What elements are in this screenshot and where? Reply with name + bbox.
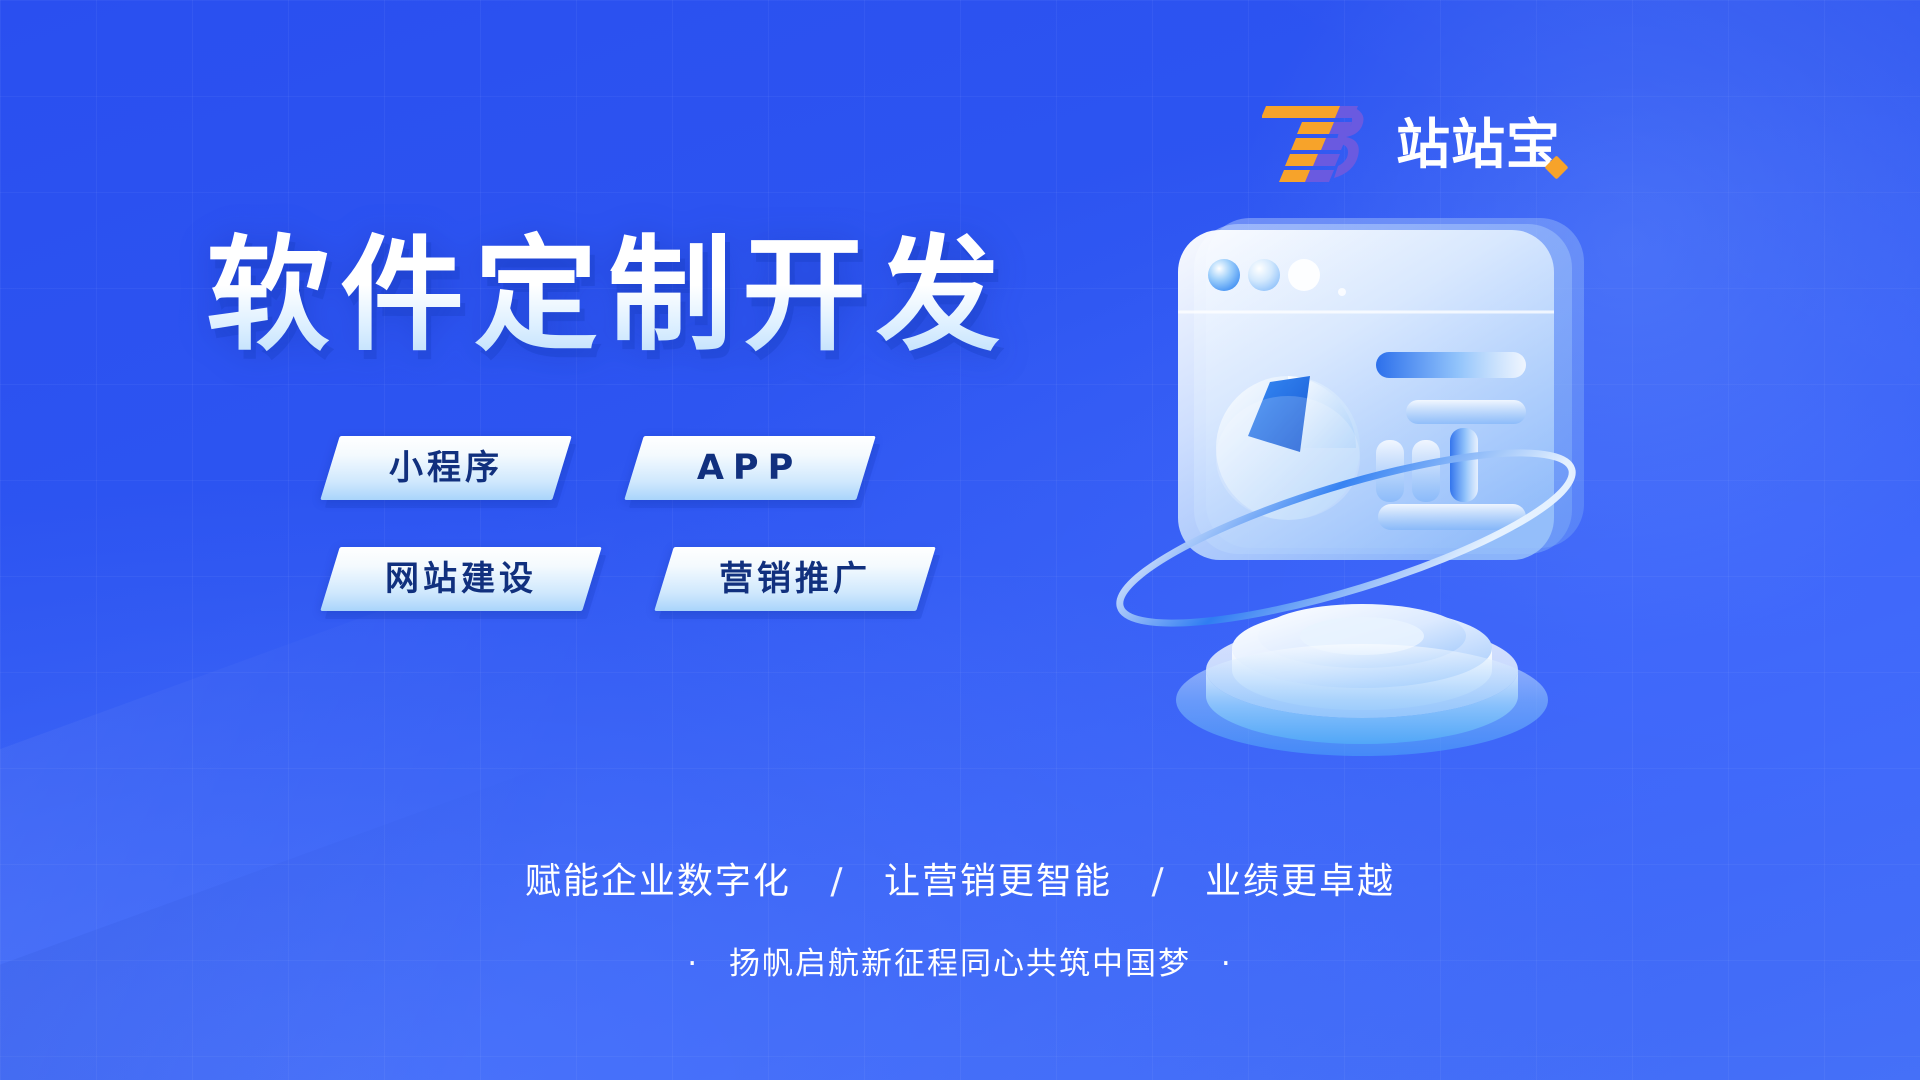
subline-text: 扬帆启航新征程同心共筑中国梦 bbox=[729, 946, 1191, 982]
tag-website-build-label: 网站建设 bbox=[385, 562, 537, 596]
tagline: 赋能企业数字化 / 让营销更智能 / 业绩更卓越 bbox=[0, 852, 1920, 904]
subline-bullet-left: · bbox=[687, 946, 699, 982]
tagline-part-3: 业绩更卓越 bbox=[1205, 861, 1395, 902]
tag-website-build[interactable]: 网站建设 bbox=[320, 547, 602, 611]
subline: · 扬帆启航新征程同心共筑中国梦 · bbox=[0, 938, 1920, 983]
tag-mini-program-label: 小程序 bbox=[389, 451, 503, 485]
tagline-part-2: 让营销更智能 bbox=[884, 861, 1112, 902]
tag-marketing-promotion-label: 营销推广 bbox=[719, 562, 871, 596]
page-title: 软件定制开发 bbox=[206, 227, 1010, 366]
service-tag-row-1: 小程序 APP bbox=[330, 436, 926, 500]
subline-bullet-right: · bbox=[1221, 946, 1233, 982]
service-tag-row-2: 网站建设 营销推广 bbox=[330, 547, 926, 611]
tagline-separator-2: / bbox=[1151, 861, 1165, 902]
tagline-part-1: 赋能企业数字化 bbox=[525, 861, 791, 902]
tag-mini-program[interactable]: 小程序 bbox=[320, 436, 572, 500]
tag-app[interactable]: APP bbox=[624, 436, 876, 500]
brand-name: 站站宝 bbox=[1396, 118, 1561, 172]
brand-name-text: 站站宝 bbox=[1396, 113, 1561, 176]
tag-marketing-promotion[interactable]: 营销推广 bbox=[654, 547, 936, 611]
zb-monogram-icon bbox=[1262, 104, 1380, 186]
brand-logo[interactable]: 站站宝 bbox=[1262, 104, 1561, 186]
tagline-separator-1: / bbox=[830, 861, 844, 902]
hero-illustration bbox=[1120, 200, 1640, 760]
tag-app-label: APP bbox=[697, 451, 802, 486]
service-tag-group: 小程序 APP 网站建设 营销推广 bbox=[330, 436, 926, 658]
hero-banner: 站站宝 软件定制开发 小程序 APP 网站建设 营销推广 赋能企业数字化 / 让… bbox=[0, 0, 1920, 1080]
